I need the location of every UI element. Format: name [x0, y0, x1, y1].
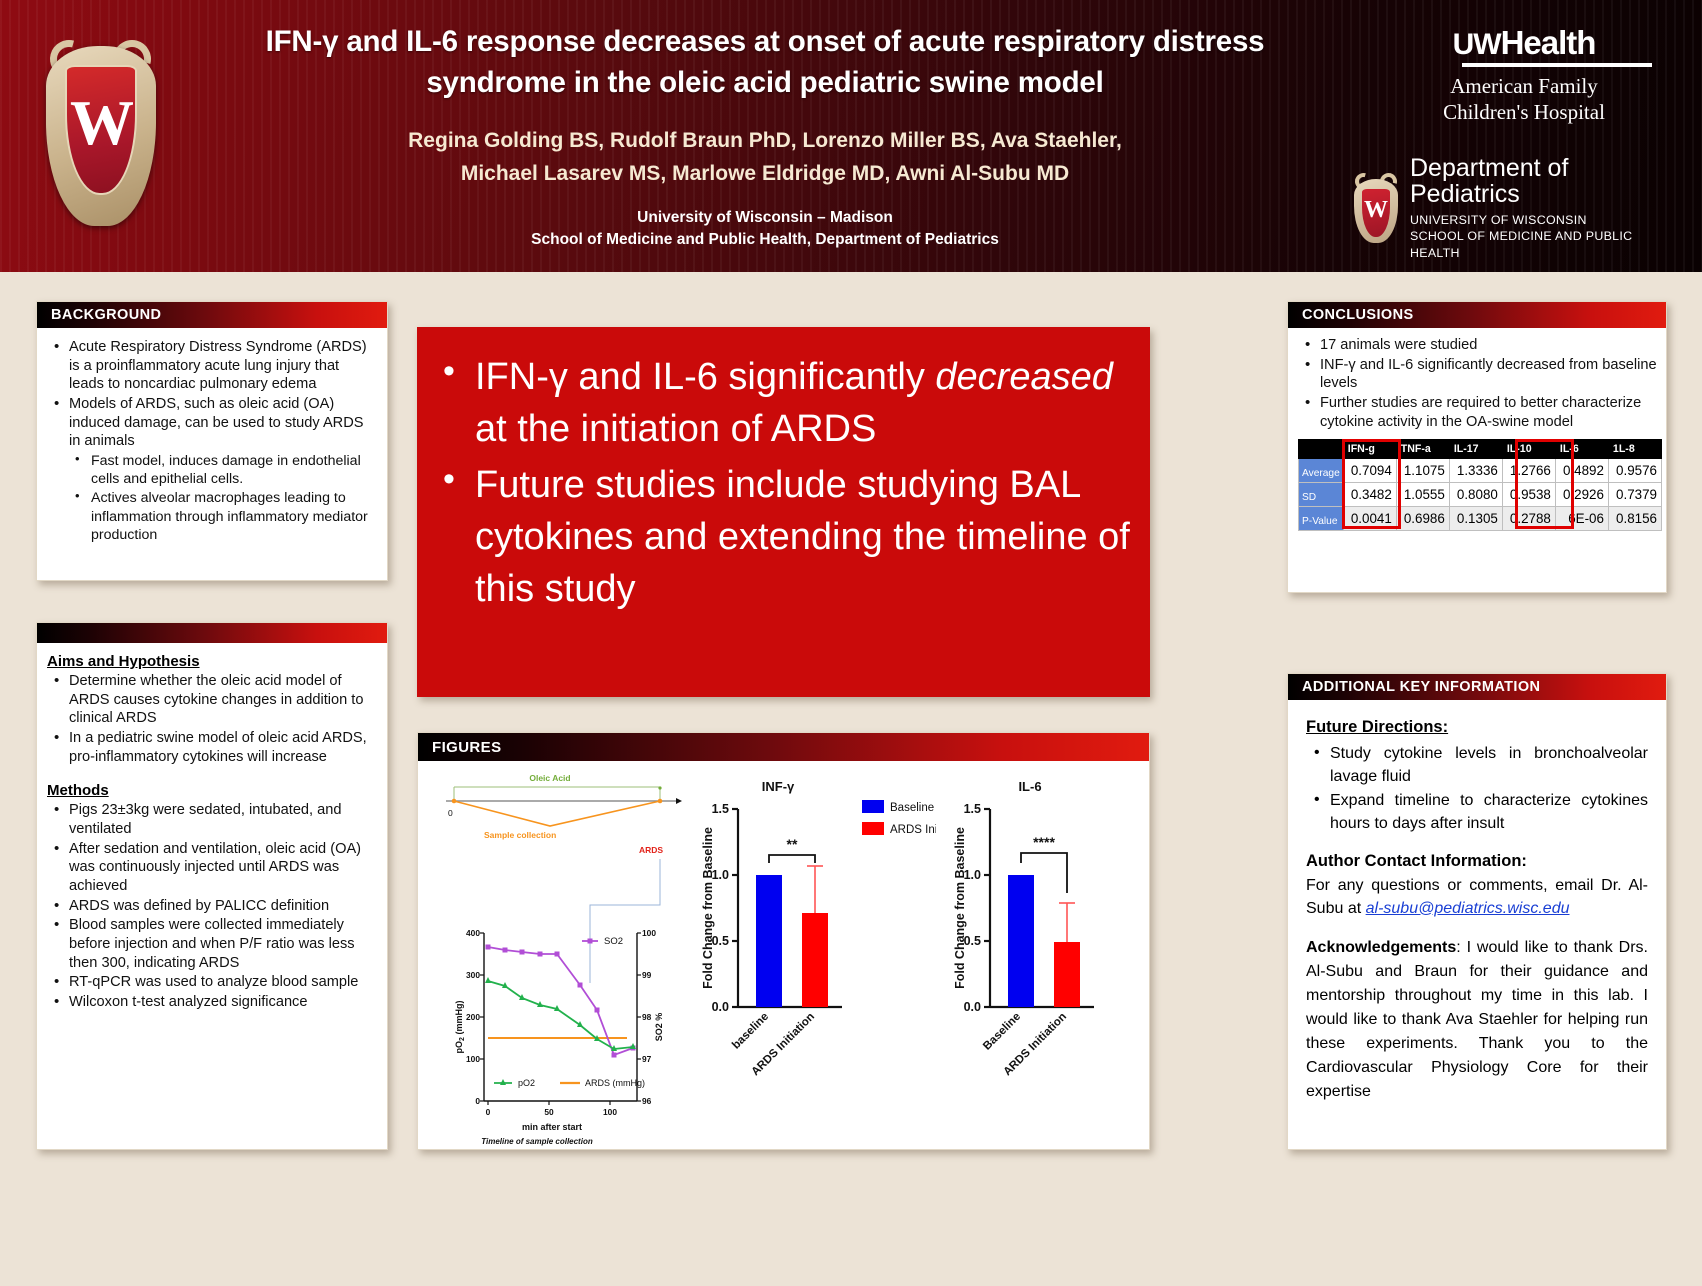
- list-item: Blood samples were collected immediately…: [47, 916, 373, 972]
- list-item: Determine whether the oleic acid model o…: [47, 672, 373, 728]
- key-results-list: IFN-γ and IL-6 significantly decreased a…: [417, 327, 1150, 615]
- affiliation-line-2: School of Medicine and Public Health, De…: [250, 229, 1280, 251]
- svg-text:98: 98: [642, 1012, 652, 1022]
- contact-text: For any questions or comments, email Dr.…: [1306, 875, 1648, 920]
- figures-panel: FIGURES Oleic Acid 0 Sample collection A…: [417, 732, 1150, 1150]
- legend-label-baseline: Baseline: [890, 802, 934, 814]
- so2-series-label: SO2: [604, 936, 623, 947]
- table-header-row: IFN-g TNF-a IL-17 IL-10 IL-6 1L-8: [1299, 440, 1662, 459]
- result-1-pre: IFN-γ and IL-6 significantly: [475, 356, 935, 398]
- cell-pvalue-il-6: 6E-06: [1555, 507, 1608, 531]
- department-of-pediatrics-logo: W Department of Pediatrics UNIVERSITY OF…: [1352, 155, 1682, 262]
- uw-health-uw-text: UW: [1453, 28, 1501, 61]
- row-header-sd: SD: [1299, 483, 1344, 507]
- contact-heading: Author Contact Information:: [1306, 852, 1648, 871]
- inf-gamma-ytick-1.5: 1.5: [712, 802, 729, 816]
- il6-xtick-baseline: Baseline: [981, 1011, 1023, 1053]
- svg-text:300: 300: [466, 970, 480, 980]
- conclusions-panel-header: CONCLUSIONS: [1288, 302, 1666, 328]
- title-block: IFN-γ and IL-6 response decreases at ons…: [250, 22, 1280, 251]
- cytokine-statistics-table: IFN-g TNF-a IL-17 IL-10 IL-6 1L-8 Averag…: [1298, 439, 1662, 531]
- aims-panel-header: [37, 623, 387, 643]
- inf-gamma-chart-title: INF-γ: [762, 779, 795, 794]
- dept-logo-line-1: Department of Pediatrics: [1410, 155, 1682, 208]
- list-item: Models of ARDS, such as oleic acid (OA) …: [47, 395, 373, 544]
- list-item: Future studies include studying BAL cyto…: [429, 459, 1132, 615]
- cell-average-il-8: 0.9576: [1608, 459, 1661, 483]
- list-item: Fast model, induces damage in endothelia…: [69, 452, 373, 488]
- uw-health-health-text: Health: [1501, 24, 1596, 61]
- cell-sd-il-6: 0.2926: [1555, 483, 1608, 507]
- additional-info-panel-body: Future Directions: Study cytokine levels…: [1288, 700, 1666, 1118]
- contact-email-link[interactable]: al-subu@pediatrics.wisc.edu: [1366, 900, 1570, 917]
- inf-gamma-xtick-baseline: baseline: [730, 1011, 771, 1052]
- timeline-po2-chart: Oleic Acid 0 Sample collection ARDS: [432, 765, 682, 1147]
- author-line-2: Michael Lasarev MS, Marlowe Eldridge MD,…: [250, 158, 1280, 191]
- cell-average-ifn-g: 0.7094: [1343, 459, 1396, 483]
- background-panel-body: Acute Respiratory Distress Syndrome (ARD…: [37, 328, 387, 555]
- table-row: P-Value 0.0041 0.6986 0.1305 0.2788 6E-0…: [1299, 507, 1662, 531]
- figures-panel-header: FIGURES: [418, 733, 1149, 761]
- bar-ards-initiation: [802, 913, 828, 1007]
- il6-chart-title: IL-6: [1018, 779, 1041, 794]
- il6-significance: ****: [1033, 834, 1055, 850]
- acknowledgements-text: Acknowledgements: I would like to thank …: [1306, 936, 1648, 1104]
- oleic-acid-annotation: Oleic Acid: [529, 773, 570, 783]
- svg-text:0: 0: [475, 1096, 480, 1106]
- list-item: Further studies are required to better c…: [1298, 394, 1658, 431]
- list-item: Study cytokine levels in bronchoalveolar…: [1306, 743, 1648, 788]
- inf-gamma-ytick-0.0: 0.0: [712, 1000, 729, 1014]
- svg-text:99: 99: [642, 970, 652, 980]
- background-panel-header: BACKGROUND: [37, 302, 387, 328]
- uw-health-wordmark: UWHealth: [1374, 26, 1674, 60]
- page-title: IFN-γ and IL-6 response decreases at ons…: [250, 22, 1280, 103]
- result-1-emphasis: decreased: [935, 356, 1112, 398]
- conclusions-panel: CONCLUSIONS 17 animals were studied INF-…: [1287, 301, 1667, 593]
- list-item: Acute Respiratory Distress Syndrome (ARD…: [47, 338, 373, 394]
- affiliation-line-1: University of Wisconsin – Madison: [250, 207, 1280, 229]
- cell-sd-ifn-g: 0.3482: [1343, 483, 1396, 507]
- svg-text:50: 50: [544, 1107, 554, 1117]
- cell-pvalue-il-17: 0.1305: [1449, 507, 1502, 531]
- additional-info-panel-header: ADDITIONAL KEY INFORMATION: [1288, 674, 1666, 700]
- table-row: SD 0.3482 1.0555 0.8080 0.9538 0.2926 0.…: [1299, 483, 1662, 507]
- dept-crest-icon: W: [1352, 171, 1400, 245]
- uw-health-logo: UWHealth American Family Children's Hosp…: [1374, 26, 1674, 126]
- timeline-zero-label: 0: [448, 808, 453, 818]
- cytokine-table-wrapper: IFN-g TNF-a IL-17 IL-10 IL-6 1L-8 Averag…: [1298, 439, 1658, 531]
- dept-logo-line-2: UNIVERSITY OF WISCONSIN: [1410, 212, 1682, 229]
- aims-bullet-list: Determine whether the oleic acid model o…: [47, 672, 373, 766]
- methods-heading: Methods: [47, 782, 373, 799]
- il6-ytick-1.5: 1.5: [964, 802, 981, 816]
- svg-text:400: 400: [466, 928, 480, 938]
- list-item: Pigs 23±3kg were sedated, intubated, and…: [47, 801, 373, 838]
- aims-methods-panel: Aims and Hypothesis Determine whether th…: [36, 622, 388, 1150]
- cell-average-il-6: 0.4892: [1555, 459, 1608, 483]
- so2-y-axis-label: SO2 %: [654, 1013, 664, 1042]
- dept-logo-line-3: SCHOOL OF MEDICINE AND PUBLIC HEALTH: [1410, 228, 1682, 261]
- aims-panel-body: Aims and Hypothesis Determine whether th…: [37, 643, 387, 1023]
- ards-annotation: ARDS: [639, 845, 663, 855]
- list-item: In a pediatric swine model of oleic acid…: [47, 729, 373, 766]
- figures-row: Oleic Acid 0 Sample collection ARDS: [418, 761, 1149, 1149]
- dept-crest-w-letter: W: [1364, 197, 1388, 224]
- svg-text:0: 0: [486, 1107, 491, 1117]
- il6-bar-chart: IL-6 1.5 1.0 0.5 0.0 **** Baseline: [938, 765, 1143, 1147]
- table-row: Average 0.7094 1.1075 1.3336 1.2766 0.48…: [1299, 459, 1662, 483]
- uw-health-sub-line-1: American Family: [1374, 73, 1674, 99]
- list-item-text: Models of ARDS, such as oleic acid (OA) …: [69, 396, 364, 449]
- conclusions-bullet-list: 17 animals were studied INF-γ and IL-6 s…: [1298, 336, 1658, 431]
- author-list: Regina Golding BS, Rudolf Braun PhD, Lor…: [250, 125, 1280, 190]
- aims-heading: Aims and Hypothesis: [47, 653, 373, 670]
- cell-average-tnf-a: 1.1075: [1396, 459, 1449, 483]
- cell-sd-il-10: 0.9538: [1502, 483, 1555, 507]
- bar-baseline: [1008, 875, 1034, 1007]
- list-item: RT-qPCR was used to analyze blood sample: [47, 973, 373, 992]
- column-header-il-8: 1L-8: [1608, 440, 1661, 459]
- list-item: Actives alveolar macrophages leading to …: [69, 489, 373, 544]
- legend-label-ards: ARDS Initiation: [890, 824, 936, 836]
- uw-health-subtitle: American Family Children's Hospital: [1374, 73, 1674, 126]
- column-header-il-10: IL-10: [1502, 440, 1555, 459]
- cell-pvalue-tnf-a: 0.6986: [1396, 507, 1449, 531]
- acknowledgements-label: Acknowledgements: [1306, 939, 1456, 956]
- bar-ards-initiation: [1054, 942, 1080, 1007]
- column-header-ifn-g: IFN-g: [1343, 440, 1396, 459]
- figure1-caption: Timeline of sample collection: [481, 1137, 593, 1146]
- cell-average-il-17: 1.3336: [1449, 459, 1502, 483]
- il6-y-axis-label: Fold Change from Baseline: [953, 827, 967, 989]
- list-item: After sedation and ventilation, oleic ac…: [47, 840, 373, 896]
- crest-w-letter: W: [70, 91, 132, 155]
- cell-average-il-10: 1.2766: [1502, 459, 1555, 483]
- inf-gamma-y-axis-label: Fold Change from Baseline: [701, 827, 715, 989]
- list-item: Wilcoxon t-test analyzed significance: [47, 993, 373, 1012]
- sample-collection-annotation: Sample collection: [484, 830, 556, 840]
- row-header-average: Average: [1299, 459, 1344, 483]
- key-results-panel: IFN-γ and IL-6 significantly decreased a…: [417, 327, 1150, 697]
- list-item: INF-γ and IL-6 significantly decreased f…: [1298, 356, 1658, 393]
- row-header-p-value: P-Value: [1299, 507, 1344, 531]
- dept-logo-text: Department of Pediatrics UNIVERSITY OF W…: [1410, 155, 1682, 262]
- inf-gamma-significance: **: [787, 836, 798, 852]
- svg-text:200: 200: [466, 1012, 480, 1022]
- bar-baseline: [756, 875, 782, 1007]
- cell-pvalue-il-10: 0.2788: [1502, 507, 1555, 531]
- future-directions-heading: Future Directions:: [1306, 718, 1648, 737]
- il6-ytick-0.0: 0.0: [964, 1000, 981, 1014]
- table-corner-cell: [1299, 440, 1344, 459]
- column-header-tnf-a: TNF-a: [1396, 440, 1449, 459]
- uw-crest-logo: W: [38, 20, 163, 240]
- additional-key-information-panel: ADDITIONAL KEY INFORMATION Future Direct…: [1287, 673, 1667, 1150]
- background-bullet-list: Acute Respiratory Distress Syndrome (ARD…: [47, 338, 373, 544]
- background-panel: BACKGROUND Acute Respiratory Distress Sy…: [36, 301, 388, 581]
- svg-text:100: 100: [642, 928, 656, 938]
- acknowledgements-body: : I would like to thank Drs. Al-Subu and…: [1306, 939, 1648, 1100]
- ards-legend-label: ARDS (mmHg): [585, 1078, 645, 1088]
- affiliation: University of Wisconsin – Madison School…: [250, 207, 1280, 252]
- column-header-il-6: IL-6: [1555, 440, 1608, 459]
- column-header-il-17: IL-17: [1449, 440, 1502, 459]
- svg-text:100: 100: [466, 1054, 480, 1064]
- cell-sd-il-17: 0.8080: [1449, 483, 1502, 507]
- list-item: ARDS was defined by PALICC definition: [47, 897, 373, 916]
- cell-pvalue-il-8: 0.8156: [1608, 507, 1661, 531]
- svg-text:96: 96: [642, 1096, 652, 1106]
- author-line-1: Regina Golding BS, Rudolf Braun PhD, Lor…: [250, 125, 1280, 158]
- conclusions-panel-body: 17 animals were studied INF-γ and IL-6 s…: [1288, 328, 1666, 537]
- uw-health-rule: [1462, 63, 1652, 67]
- methods-bullet-list: Pigs 23±3kg were sedated, intubated, and…: [47, 801, 373, 1011]
- svg-text:97: 97: [642, 1054, 652, 1064]
- result-1-post: at the initiation of ARDS: [475, 408, 876, 450]
- svg-text:100: 100: [603, 1107, 617, 1117]
- poster-header: W IFN-γ and IL-6 response decreases at o…: [0, 0, 1702, 272]
- timeline-x-axis-label: min after start: [522, 1122, 582, 1132]
- list-item: IFN-γ and IL-6 significantly decreased a…: [429, 351, 1132, 455]
- legend-swatch-baseline: [862, 800, 884, 813]
- po2-legend-label: pO2: [518, 1078, 535, 1088]
- inf-gamma-bar-chart: INF-γ 1.5 1.0 0.5 0.0: [686, 765, 936, 1147]
- list-item: 17 animals were studied: [1298, 336, 1658, 355]
- cell-pvalue-ifn-g: 0.0041: [1343, 507, 1396, 531]
- list-item: Expand timeline to characterize cytokine…: [1306, 790, 1648, 835]
- legend-swatch-ards: [862, 822, 884, 835]
- future-directions-list: Study cytokine levels in bronchoalveolar…: [1306, 743, 1648, 836]
- background-sub-bullet-list: Fast model, induces damage in endothelia…: [69, 452, 373, 544]
- cell-sd-il-8: 0.7379: [1608, 483, 1661, 507]
- cell-sd-tnf-a: 1.0555: [1396, 483, 1449, 507]
- uw-health-sub-line-2: Children's Hospital: [1374, 99, 1674, 125]
- po2-y-axis-label: pO2 (mmHg): [454, 1001, 466, 1054]
